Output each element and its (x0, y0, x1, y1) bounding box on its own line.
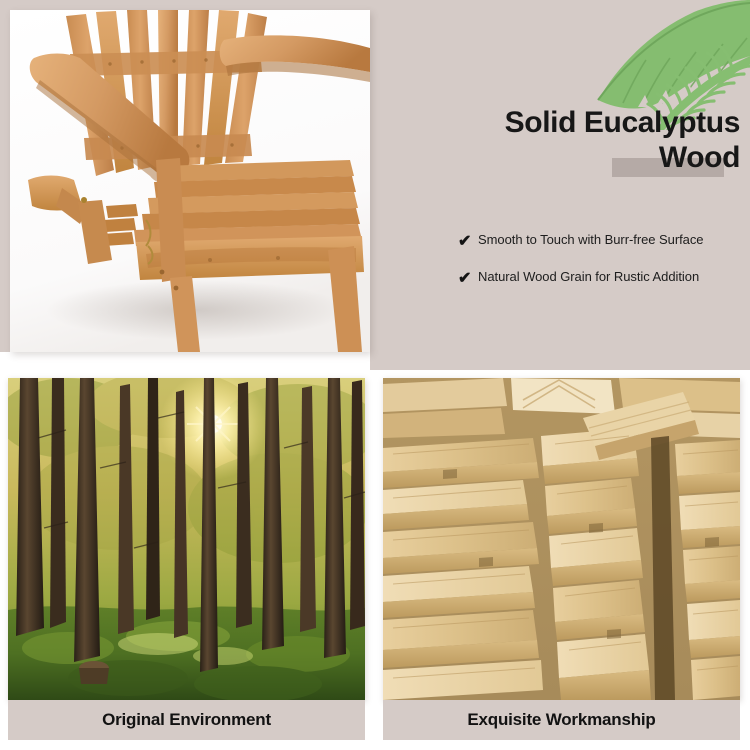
feature-list: ✔ Smooth to Touch with Burr-free Surface… (458, 232, 740, 307)
check-icon: ✔ (458, 232, 478, 252)
tile-caption: Original Environment (8, 700, 365, 740)
forest-photo (8, 378, 365, 700)
product-image-card (10, 10, 370, 352)
feature-text: Smooth to Touch with Burr-free Surface (478, 232, 703, 249)
title-line-2: Wood (659, 141, 740, 174)
feature-item: ✔ Smooth to Touch with Burr-free Surface (458, 232, 740, 252)
tile-original-environment: Original Environment (8, 378, 365, 750)
title-line-1: Solid Eucalyptus (505, 106, 740, 139)
tile-caption: Exquisite Workmanship (383, 700, 740, 740)
top-panel-background (370, 0, 750, 370)
feature-text: Natural Wood Grain for Rustic Addition (478, 269, 699, 286)
banana-leaf-icon (598, 0, 750, 109)
adirondack-chair-photo (10, 10, 370, 352)
tile-exquisite-workmanship: Exquisite Workmanship (383, 378, 740, 750)
infographic-page: Solid Eucalyptus Wood ✔ Smooth to Touch … (0, 0, 750, 750)
check-icon: ✔ (458, 269, 478, 289)
page-title: Solid Eucalyptus Wood (420, 106, 740, 176)
lumber-stack-photo (383, 378, 740, 700)
feature-item: ✔ Natural Wood Grain for Rustic Addition (458, 269, 740, 289)
title-line-2-wrap: Wood (420, 141, 740, 176)
